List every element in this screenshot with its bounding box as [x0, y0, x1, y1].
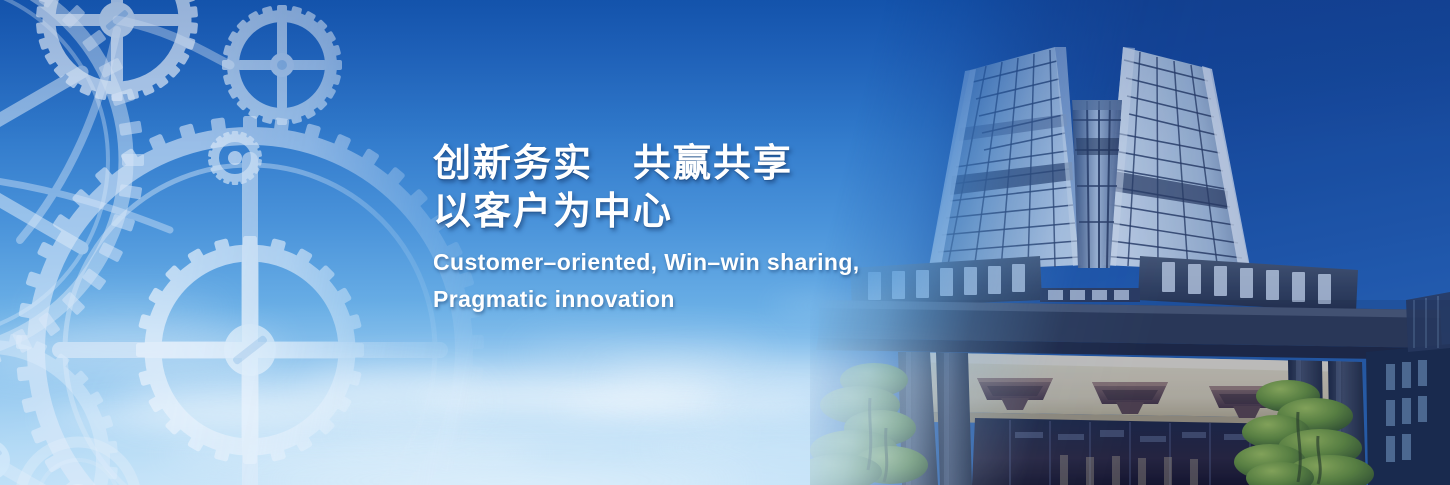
headline-copy-block: 创新务实 共赢共享 以客户为中心 Customer–oriented, Win–…: [433, 140, 993, 318]
headline-cn-line2: 以客户为中心: [433, 188, 993, 236]
subhead-en-line1: Customer–oriented, Win–win sharing,: [433, 244, 993, 281]
headline-cn-line1: 创新务实 共赢共享: [433, 140, 993, 188]
hero-banner: 创新务实 共赢共享 以客户为中心 Customer–oriented, Win–…: [0, 0, 1450, 485]
subhead-en-line2: Pragmatic innovation: [433, 281, 993, 318]
